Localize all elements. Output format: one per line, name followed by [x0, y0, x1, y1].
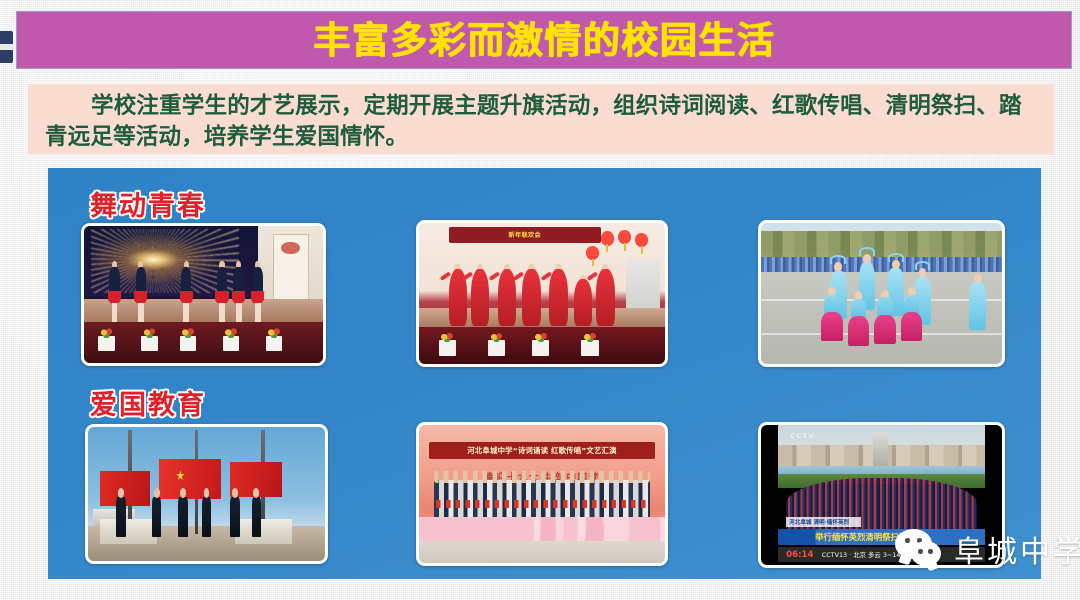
- tv-subtag: 河北阜城 清明·缅怀英烈: [786, 517, 861, 527]
- edge-decoration: [0, 31, 13, 63]
- description-text: 学校注重学生的才艺展示，定期开展主题升旗活动，组织诗词阅读、红歌传唱、清明祭扫、…: [45, 91, 1037, 153]
- photo-stage-dance-image: [84, 226, 323, 363]
- section-label-dance: 舞动青春: [90, 184, 206, 223]
- section-label-patriotic: 爱国教育: [90, 383, 206, 422]
- photo-newyear-dance-image: 新年联欢会: [419, 223, 665, 364]
- slide-title-band: 丰富多彩而激情的校园生活: [16, 11, 1072, 69]
- tv-time: 06:14: [786, 550, 813, 560]
- description-box: 学校注重学生的才艺展示，定期开展主题升旗活动，组织诗词阅读、红歌传唱、清明祭扫、…: [28, 84, 1054, 154]
- photo-tv-news-image: CCTV 河北阜城 清明·缅怀英烈 举行缅怀英烈清明祭扫活动 06:14 CCT…: [761, 425, 1002, 565]
- tv-ticker-text: 举行缅怀英烈清明祭扫活动: [815, 531, 916, 543]
- photo-chorus-image: 河北阜城中学“诗词诵读 红歌传唱”文艺汇演 喜迎十九大 共筑中国梦: [419, 425, 665, 563]
- photo-panel: 舞动青春 爱国教育: [48, 168, 1041, 579]
- photo-newyear-dance[interactable]: 新年联欢会: [416, 220, 668, 367]
- tv-meta: CCTV13 · 北京 多云 3~14℃: [822, 550, 908, 559]
- photo-chorus[interactable]: 河北阜城中学“诗词诵读 红歌传唱”文艺汇演 喜迎十九大 共筑中国梦: [416, 422, 668, 566]
- newyear-banner: 新年联欢会: [449, 227, 602, 243]
- photo-flag-raising-image: [88, 427, 325, 561]
- page-title: 丰富多彩而激情的校园生活: [313, 22, 775, 59]
- chorus-banner: 河北阜城中学“诗词诵读 红歌传唱”文艺汇演: [429, 442, 655, 460]
- chorus-banner-text: 河北阜城中学“诗词诵读 红歌传唱”文艺汇演: [467, 445, 617, 456]
- photo-stage-dance[interactable]: [81, 223, 326, 366]
- photo-playground-dance[interactable]: [758, 220, 1005, 367]
- newyear-banner-text: 新年联欢会: [449, 227, 602, 243]
- photo-playground-dance-image: [761, 223, 1002, 364]
- tv-news-ticker: 举行缅怀英烈清明祭扫活动: [778, 529, 985, 546]
- photo-flag-raising[interactable]: [85, 424, 328, 564]
- photo-tv-news[interactable]: CCTV 河北阜城 清明·缅怀英烈 举行缅怀英烈清明祭扫活动 06:14 CCT…: [758, 422, 1005, 568]
- tv-channel-logo: CCTV: [790, 432, 814, 440]
- tv-bottom-bar: 06:14 CCTV13 · 北京 多云 3~14℃: [778, 547, 985, 562]
- tv-subtag-text: 河北阜城 清明·缅怀英烈: [789, 518, 849, 526]
- slide-canvas: 丰富多彩而激情的校园生活 学校注重学生的才艺展示，定期开展主题升旗活动，组织诗词…: [0, 0, 1080, 600]
